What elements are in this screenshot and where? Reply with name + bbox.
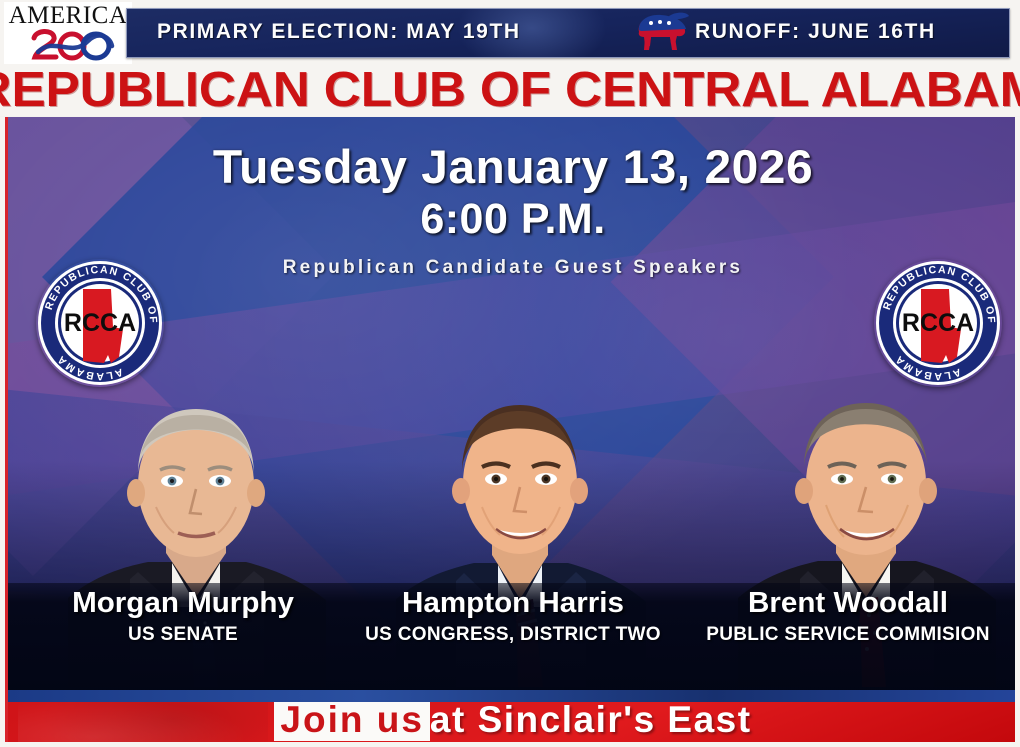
join-us-label: Join us (274, 702, 430, 741)
runoff-election-text: RUNOFF: JUNE 16TH (695, 20, 936, 44)
candidate-office-1: US SENATE (18, 625, 348, 645)
candidate-office-2: US CONGRESS, DISTRICT TWO (338, 625, 688, 645)
candidate-office-3: PUBLIC SERVICE COMMISION (688, 625, 1008, 645)
frame-right (1015, 117, 1020, 747)
america-250-wordmark: AMERICA (6, 3, 130, 29)
candidate-nameplate-band: Morgan Murphy US SENATE Hampton Harris U… (8, 583, 1018, 690)
frame-left (0, 117, 5, 747)
frame-bottom (0, 742, 1020, 747)
candidate-name-1: Morgan Murphy (15, 587, 352, 620)
election-dates-banner: PRIMARY ELECTION: MAY 19TH RUNOFF: JUNE … (126, 8, 1010, 58)
event-flyer: AMERICA PRIMARY ELECTION: MAY 19TH (0, 0, 1020, 747)
candidate-block-3: Brent Woodall PUBLIC SERVICE COMMISION (688, 583, 1008, 645)
venue-line: Join usat Sinclair's East (8, 702, 1018, 741)
flyer-main-panel: REPUBLICAN CLUB OF CENTRAL ALABAMA RCCA … (5, 117, 1020, 742)
america-250-logo: AMERICA (4, 2, 132, 64)
venue-name: at Sinclair's East (430, 702, 752, 741)
flyer-header: AMERICA PRIMARY ELECTION: MAY 19TH (0, 0, 1020, 116)
candidate-block-2: Hampton Harris US CONGRESS, DISTRICT TWO (338, 583, 688, 645)
candidate-name-2: Hampton Harris (335, 587, 692, 620)
primary-election-text: PRIMARY ELECTION: MAY 19TH (157, 20, 521, 44)
candidate-name-3: Brent Woodall (685, 587, 1011, 620)
gop-elephant-icon (629, 10, 691, 56)
blue-divider-strip (8, 690, 1018, 702)
america-250-ribbon-icon (30, 28, 116, 62)
candidate-block-1: Morgan Murphy US SENATE (18, 583, 348, 645)
club-title: REPUBLICAN CLUB OF CENTRAL ALABAMA (0, 62, 1020, 116)
flyer-footer: Join usat Sinclair's East 7847 Vaughn Ro… (8, 702, 1018, 742)
